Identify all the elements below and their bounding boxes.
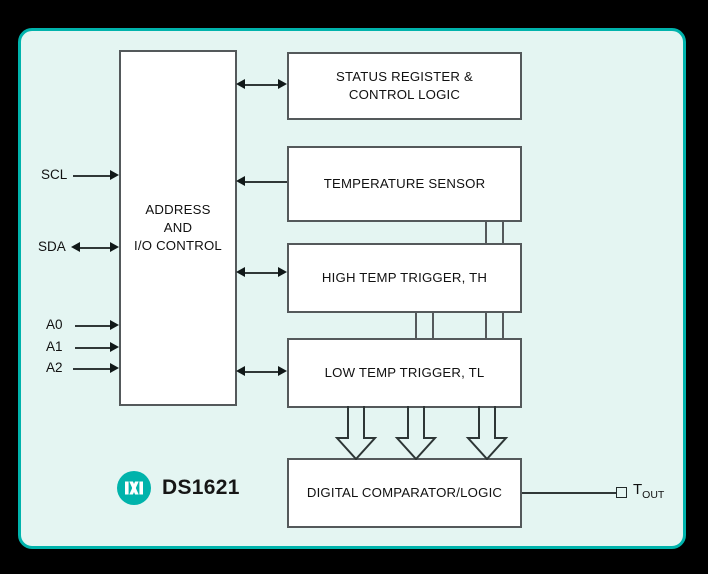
- block-high-temp-trigger-label: HIGH TEMP TRIGGER, TH: [322, 269, 487, 287]
- brand-logo-group: DS1621: [117, 471, 240, 505]
- output-terminal-tout: [616, 487, 627, 498]
- block-digital-comparator: DIGITAL COMPARATOR/LOGIC: [287, 458, 522, 528]
- bus-connector-sensor-high-a: [485, 220, 487, 245]
- pin-line-a0: [75, 325, 113, 327]
- pin-label-scl: SCL: [41, 167, 67, 182]
- block-address-io-line3: I/O CONTROL: [134, 237, 222, 255]
- output-label-tout: TOUT: [633, 481, 664, 501]
- bus-arrowhead-high-right: [278, 267, 287, 277]
- bus-connector-sensor-high-b: [502, 220, 504, 245]
- pin-label-a1: A1: [46, 339, 63, 354]
- block-high-temp-trigger: HIGH TEMP TRIGGER, TH: [287, 243, 522, 313]
- bus-line-high-temp-trigger: [244, 272, 280, 274]
- bus-connector-high-low-a1: [415, 311, 417, 340]
- pin-line-a1: [75, 347, 113, 349]
- block-low-temp-trigger: LOW TEMP TRIGGER, TL: [287, 338, 522, 408]
- part-number-label: DS1621: [162, 476, 240, 500]
- bus-arrowhead-low-right: [278, 366, 287, 376]
- pin-label-a2: A2: [46, 360, 63, 375]
- pin-line-scl: [73, 175, 113, 177]
- pin-label-sda: SDA: [38, 239, 66, 254]
- pin-arrowhead-a0: [110, 320, 119, 330]
- bus-connector-high-low-b1: [485, 311, 487, 340]
- pin-arrowhead-scl: [110, 170, 119, 180]
- output-label-tout-sub: OUT: [642, 489, 664, 501]
- block-status-register: STATUS REGISTER & CONTROL LOGIC: [287, 52, 522, 120]
- output-line-tout: [522, 492, 617, 494]
- block-temperature-sensor-label: TEMPERATURE SENSOR: [324, 175, 486, 193]
- block-status-register-line2: CONTROL LOGIC: [336, 86, 473, 104]
- bus-arrowhead-status-right: [278, 79, 287, 89]
- block-low-temp-trigger-label: LOW TEMP TRIGGER, TL: [325, 364, 485, 382]
- block-status-register-line1: STATUS REGISTER &: [336, 68, 473, 86]
- pin-label-a0: A0: [46, 317, 63, 332]
- pin-arrowhead-a2: [110, 363, 119, 373]
- bus-line-low-temp-trigger: [244, 371, 280, 373]
- bus-connector-high-low-a2: [432, 311, 434, 340]
- bus-arrowhead-high-left: [236, 267, 245, 277]
- bus-arrowhead-low-left: [236, 366, 245, 376]
- bus-line-status-register: [244, 84, 280, 86]
- block-temperature-sensor: TEMPERATURE SENSOR: [287, 146, 522, 222]
- pin-arrowhead-sda-right: [110, 242, 119, 252]
- maxim-integrated-logo-icon: [117, 471, 151, 505]
- pin-arrowhead-a1: [110, 342, 119, 352]
- block-arrow-to-comparator-3: [462, 406, 512, 460]
- diagram-canvas: ADDRESS AND I/O CONTROL STATUS REGISTER …: [0, 0, 708, 574]
- block-arrow-to-comparator-1: [331, 406, 381, 460]
- bus-arrowhead-status-left: [236, 79, 245, 89]
- pin-line-sda: [79, 247, 113, 249]
- block-address-io-line2: AND: [134, 219, 222, 237]
- bus-line-temperature-sensor: [244, 181, 287, 183]
- bus-connector-high-low-b2: [502, 311, 504, 340]
- block-address-io-line1: ADDRESS: [134, 201, 222, 219]
- block-digital-comparator-label: DIGITAL COMPARATOR/LOGIC: [307, 484, 502, 502]
- pin-line-a2: [73, 368, 113, 370]
- block-arrow-to-comparator-2: [391, 406, 441, 460]
- output-label-tout-main: T: [633, 481, 642, 498]
- pin-arrowhead-sda-left: [71, 242, 80, 252]
- block-address-io: ADDRESS AND I/O CONTROL: [119, 50, 237, 406]
- bus-arrowhead-temperature-sensor: [236, 176, 245, 186]
